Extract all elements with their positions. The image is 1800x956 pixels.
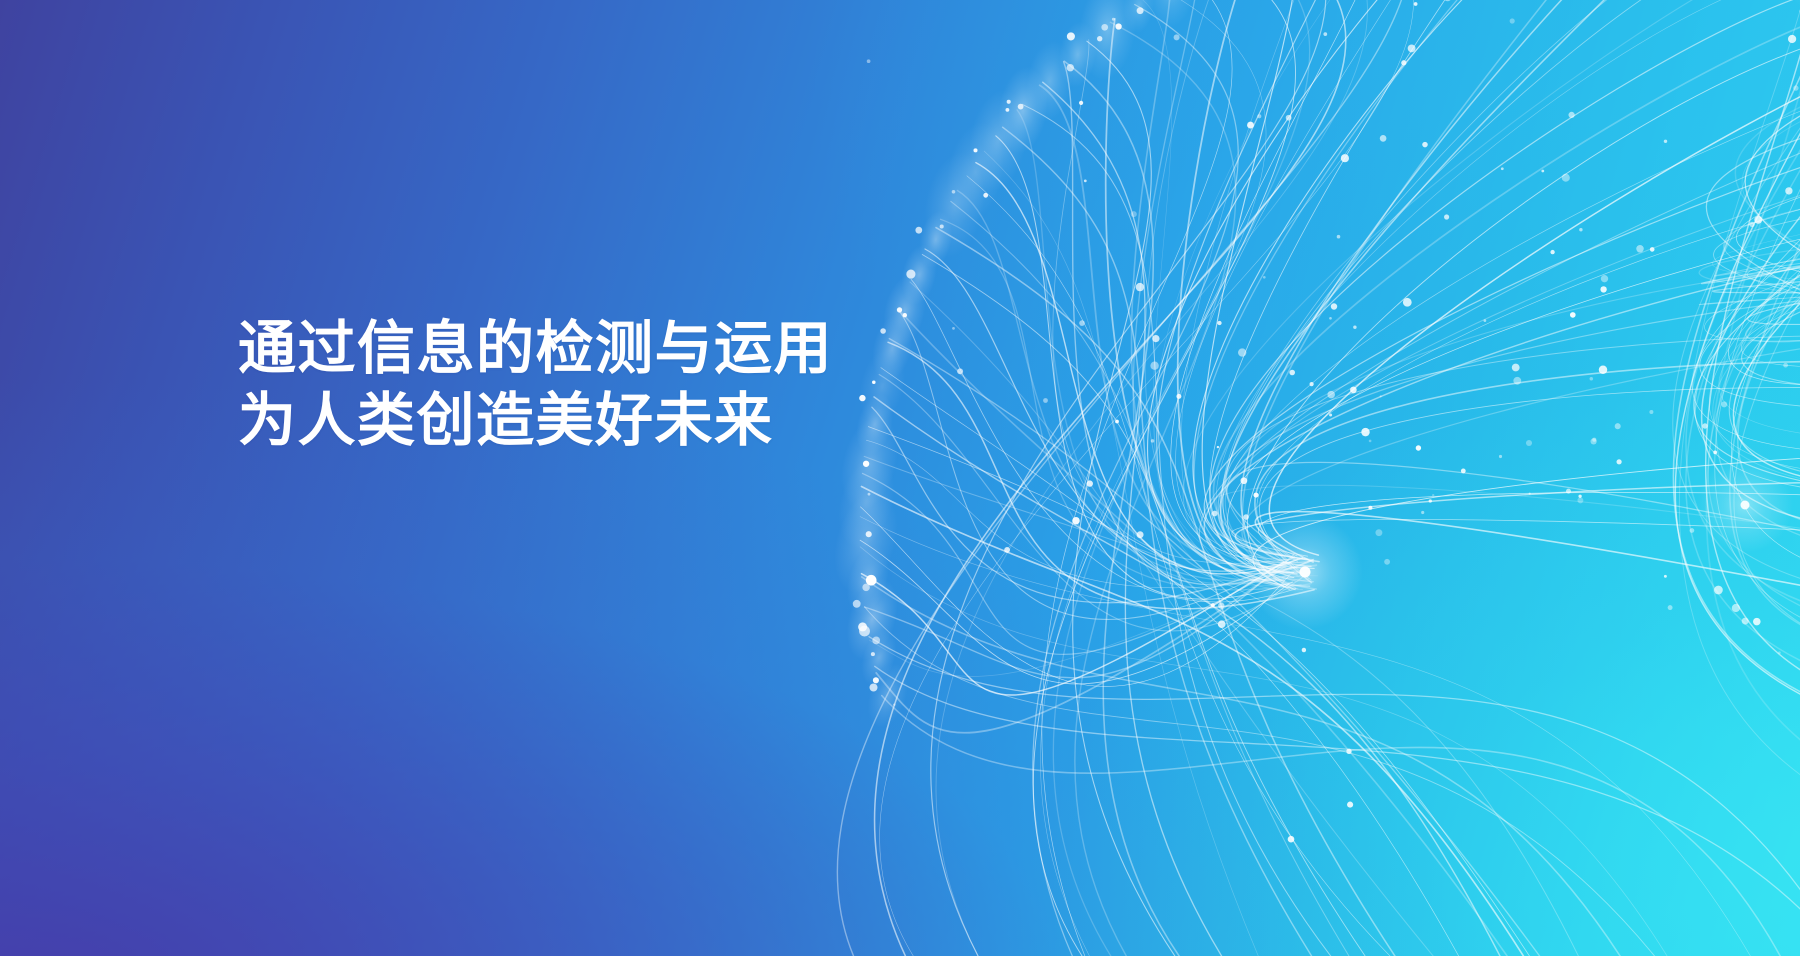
hero-banner: 通过信息的检测与运用 为人类创造美好未来 (0, 0, 1800, 956)
headline-line-2: 为人类创造美好未来 (238, 385, 833, 457)
particle-globe-graphic (0, 0, 1800, 956)
headline-line-1: 通过信息的检测与运用 (238, 313, 833, 385)
headline: 通过信息的检测与运用 为人类创造美好未来 (238, 313, 833, 457)
